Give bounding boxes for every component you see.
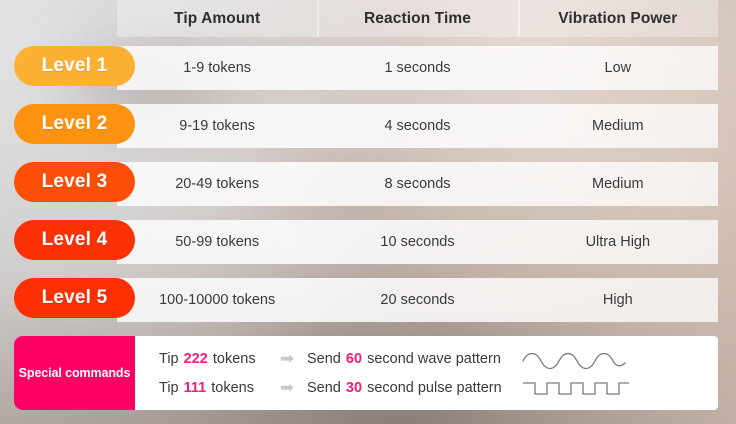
level-badge-4: Level 4	[14, 220, 135, 260]
cell-vibration-power: High	[518, 278, 718, 322]
tip-suffix: tokens	[209, 351, 256, 367]
send-duration-value: 60	[345, 351, 363, 367]
column-header-tip-amount: Tip Amount	[117, 0, 317, 37]
special-commands-section: Special commands Tip 222 tokens ➡ Send 6…	[14, 336, 718, 410]
cell-vibration-power: Medium	[518, 162, 718, 206]
send-prefix: Send	[307, 380, 345, 396]
cell-tip-amount: 9-19 tokens	[117, 104, 317, 148]
tip-suffix: tokens	[207, 380, 254, 396]
level-badge-3: Level 3	[14, 162, 135, 202]
square-wave-icon	[521, 378, 633, 398]
cell-tip-amount: 1-9 tokens	[117, 46, 317, 90]
table-row: 9-19 tokens 4 seconds Medium	[117, 104, 718, 148]
special-command-line: Tip 222 tokens ➡ Send 60 second wave pat…	[159, 348, 718, 370]
column-header-label: Reaction Time	[364, 10, 471, 28]
column-header-label: Vibration Power	[558, 10, 677, 28]
column-header-label: Tip Amount	[174, 10, 260, 28]
cell-vibration-power: Medium	[518, 104, 718, 148]
cell-tip-amount: 20-49 tokens	[117, 162, 317, 206]
special-commands-badge: Special commands	[14, 336, 135, 410]
send-suffix: second wave pattern	[363, 351, 501, 367]
tip-prefix: Tip	[159, 351, 183, 367]
cell-reaction-time: 8 seconds	[317, 162, 517, 206]
send-duration-value: 30	[345, 380, 363, 396]
column-header-reaction-time: Reaction Time	[317, 0, 517, 37]
special-send-text: Send 30 second pulse pattern	[307, 380, 507, 396]
cell-reaction-time: 1 seconds	[317, 46, 517, 90]
tip-amount-value: 222	[183, 351, 209, 367]
table-row: 20-49 tokens 8 seconds Medium	[117, 162, 718, 206]
tip-prefix: Tip	[159, 380, 183, 396]
table-row: 1-9 tokens 1 seconds Low	[117, 46, 718, 90]
cell-vibration-power: Low	[518, 46, 718, 90]
cell-tip-amount: 100-10000 tokens	[117, 278, 317, 322]
table-row: 100-10000 tokens 20 seconds High	[117, 278, 718, 322]
table-header-row: Tip Amount Reaction Time Vibration Power	[117, 0, 718, 37]
arrow-right-icon: ➡	[267, 379, 307, 396]
sine-wave-icon	[521, 349, 633, 369]
cell-reaction-time: 10 seconds	[317, 220, 517, 264]
cell-reaction-time: 20 seconds	[317, 278, 517, 322]
level-badge-1: Level 1	[14, 46, 135, 86]
special-tip-text: Tip 222 tokens	[159, 351, 267, 367]
special-commands-body: Tip 222 tokens ➡ Send 60 second wave pat…	[135, 336, 718, 410]
tip-menu-table: Tip Amount Reaction Time Vibration Power…	[0, 0, 736, 424]
send-prefix: Send	[307, 351, 345, 367]
special-command-line: Tip 111 tokens ➡ Send 30 second pulse pa…	[159, 377, 718, 399]
cell-tip-amount: 50-99 tokens	[117, 220, 317, 264]
send-suffix: second pulse pattern	[363, 380, 502, 396]
special-tip-text: Tip 111 tokens	[159, 380, 267, 396]
table-row: 50-99 tokens 10 seconds Ultra High	[117, 220, 718, 264]
tip-amount-value: 111	[183, 380, 208, 396]
column-header-vibration-power: Vibration Power	[518, 0, 718, 37]
cell-vibration-power: Ultra High	[518, 220, 718, 264]
special-send-text: Send 60 second wave pattern	[307, 351, 507, 367]
arrow-right-icon: ➡	[267, 350, 307, 367]
cell-reaction-time: 4 seconds	[317, 104, 517, 148]
level-badge-2: Level 2	[14, 104, 135, 144]
level-badge-5: Level 5	[14, 278, 135, 318]
